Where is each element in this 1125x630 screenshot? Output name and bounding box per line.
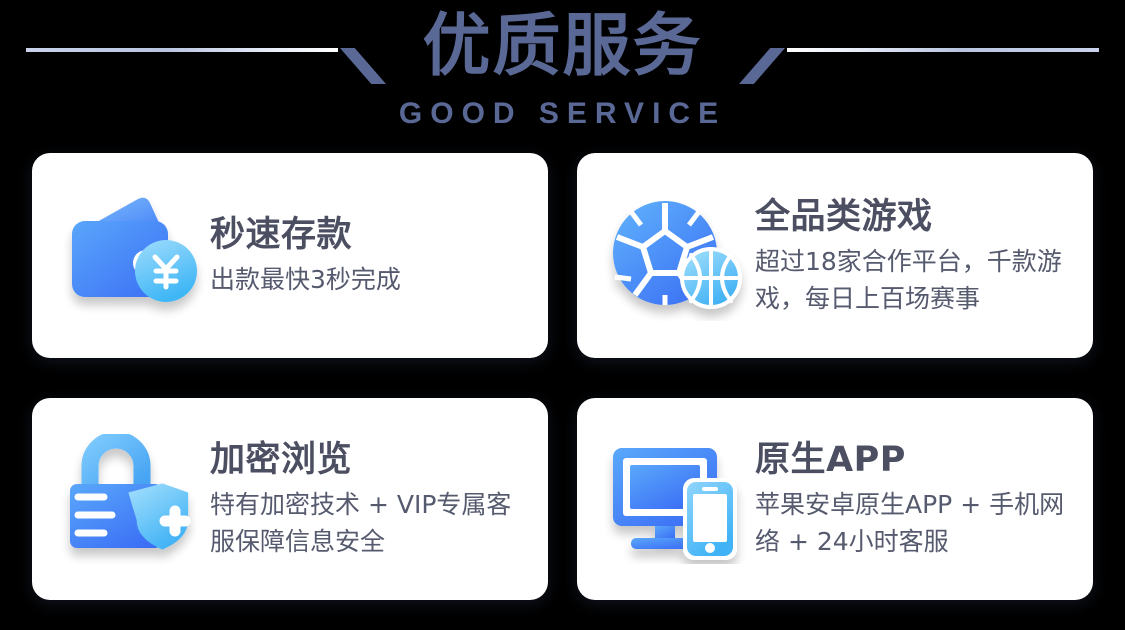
- feature-card-text: 加密浏览 特有加密技术 + VIP专属客服保障信息安全: [210, 438, 548, 560]
- feature-card[interactable]: 加密浏览 特有加密技术 + VIP专属客服保障信息安全: [32, 398, 548, 600]
- wallet-yen-icon: [60, 191, 210, 321]
- page-title: 优质服务: [0, 6, 1125, 88]
- feature-card-grid: 秒速存款 出款最快3秒完成: [32, 153, 1093, 600]
- soccer-basketball-icon: [605, 191, 755, 321]
- feature-card-text: 全品类游戏 超过18家合作平台，千款游戏，每日上百场赛事: [755, 195, 1093, 317]
- feature-card-title: 加密浏览: [210, 438, 530, 482]
- feature-card-desc: 超过18家合作平台，千款游戏，每日上百场赛事: [755, 243, 1075, 317]
- promo-banner: 优质服务 GOOD SERVICE: [0, 0, 1125, 630]
- lock-shield-icon: [60, 434, 210, 564]
- feature-card-text: 原生APP 苹果安卓原生APP + 手机网络 + 24小时客服: [755, 438, 1093, 560]
- feature-card-title: 秒速存款: [210, 213, 530, 257]
- feature-card-desc: 苹果安卓原生APP + 手机网络 + 24小时客服: [755, 486, 1075, 560]
- feature-card[interactable]: 全品类游戏 超过18家合作平台，千款游戏，每日上百场赛事: [577, 153, 1093, 358]
- feature-card[interactable]: 原生APP 苹果安卓原生APP + 手机网络 + 24小时客服: [577, 398, 1093, 600]
- page-header: 优质服务 GOOD SERVICE: [0, 0, 1125, 150]
- feature-card-title: 全品类游戏: [755, 195, 1075, 239]
- feature-card-title: 原生APP: [755, 438, 1075, 482]
- feature-card-desc: 特有加密技术 + VIP专属客服保障信息安全: [210, 486, 530, 560]
- feature-card-desc: 出款最快3秒完成: [210, 261, 530, 298]
- feature-card[interactable]: 秒速存款 出款最快3秒完成: [32, 153, 548, 358]
- monitor-phone-icon: [605, 434, 755, 564]
- page-subtitle: GOOD SERVICE: [0, 97, 1125, 131]
- feature-card-text: 秒速存款 出款最快3秒完成: [210, 213, 548, 298]
